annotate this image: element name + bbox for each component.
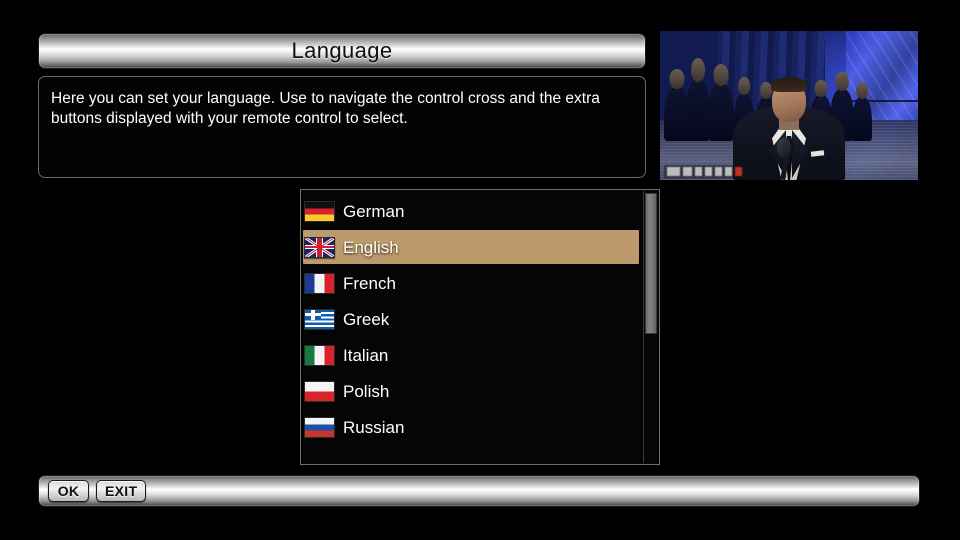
exit-button[interactable]: EXIT: [96, 480, 146, 502]
list-item-label: Italian: [343, 347, 388, 364]
list-item-label: English: [343, 239, 399, 256]
page-title: Language: [291, 38, 392, 64]
language-selection-list[interactable]: German English French: [300, 189, 660, 465]
help-description-text: Here you can set your language. Use to n…: [51, 89, 631, 130]
preview-crowd-figure: [686, 79, 710, 141]
list-item[interactable]: French: [301, 265, 642, 301]
preview-crowd-figure: [852, 97, 872, 141]
language-list-items: German English French: [301, 190, 642, 464]
preview-microphone-head: [777, 138, 791, 158]
list-item[interactable]: Greek: [301, 301, 642, 337]
flag-germany: [304, 201, 335, 222]
list-item-label: German: [343, 203, 404, 220]
footer-button-bar: OK EXIT: [38, 475, 920, 507]
scrollbar-track[interactable]: [643, 191, 658, 463]
list-item[interactable]: Russian: [301, 409, 642, 445]
flag-italy: [304, 345, 335, 366]
list-item-label: Russian: [343, 419, 404, 436]
help-description-panel: Here you can set your language. Use to n…: [38, 76, 646, 178]
list-item-label: Polish: [343, 383, 389, 400]
list-item-label: Greek: [343, 311, 389, 328]
flag-poland: [304, 381, 335, 402]
tv-settings-screen: Language Here you can set your language.…: [0, 0, 960, 540]
scrollbar-thumb[interactable]: [645, 193, 657, 334]
preview-reporter-hair: [771, 77, 807, 92]
ok-button[interactable]: OK: [48, 480, 89, 502]
flag-russia: [304, 417, 335, 438]
flag-greece: [304, 309, 335, 330]
list-item[interactable]: German: [301, 193, 642, 229]
flag-united-kingdom: [304, 237, 335, 258]
window-title-bar: Language: [38, 33, 646, 69]
flag-france: [304, 273, 335, 294]
list-item[interactable]: Polish: [301, 373, 642, 409]
list-item-label: French: [343, 275, 396, 292]
list-item[interactable]: Italian: [301, 337, 642, 373]
live-tv-preview[interactable]: [660, 31, 918, 180]
preview-crowd-figure: [708, 83, 734, 141]
news-logo-watermark: [664, 165, 746, 178]
list-item[interactable]: English: [301, 229, 642, 265]
